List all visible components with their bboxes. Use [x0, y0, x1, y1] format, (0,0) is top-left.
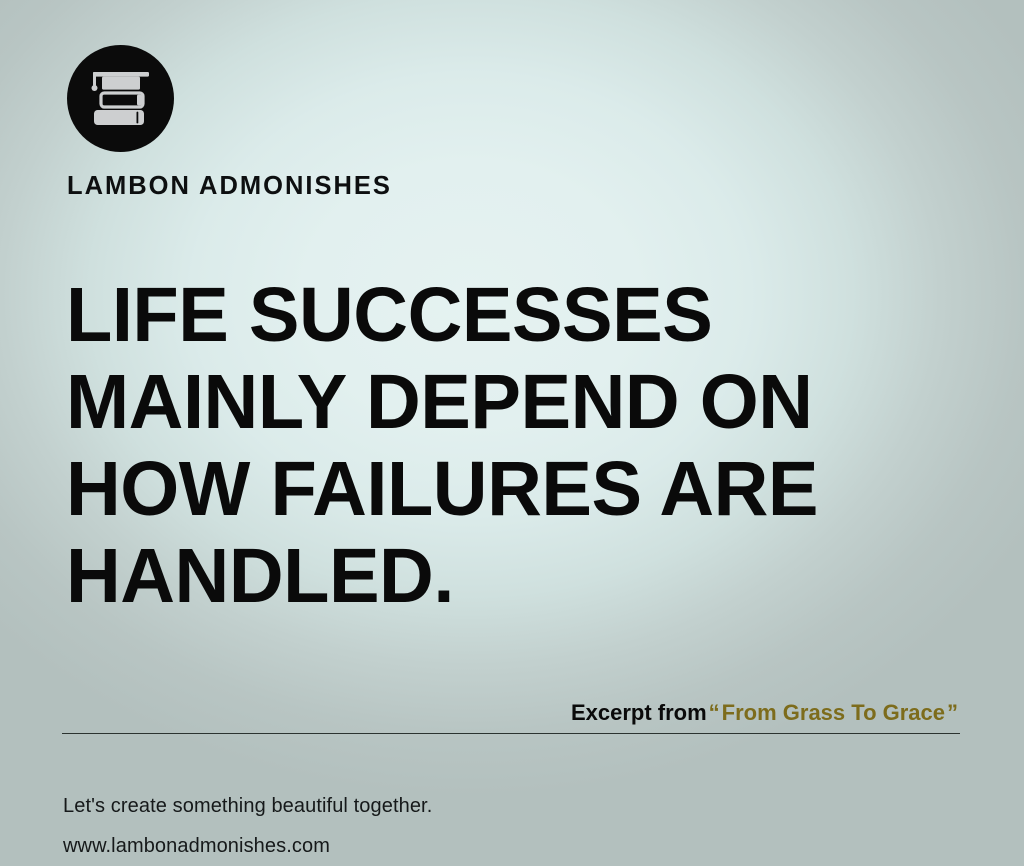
page-title: LIFE SUCCESSES MAINLY DEPEND ON HOW FAIL… — [66, 272, 966, 620]
open-quote-mark: “ — [707, 700, 722, 725]
headline-line-1: LIFE SUCCESSES — [66, 272, 953, 359]
divider — [62, 733, 960, 734]
footer-website[interactable]: www.lambonadmonishes.com — [63, 826, 432, 866]
close-quote-mark: ” — [945, 700, 960, 725]
graduation-cap-on-books-icon — [85, 63, 157, 135]
excerpt-source-title: From Grass To Grace — [722, 700, 945, 725]
brand-name: LAMBON ADMONISHES — [67, 174, 487, 200]
headline-line-4: HANDLED. — [66, 533, 953, 620]
headline-line-3: HOW FAILURES ARE — [66, 446, 953, 533]
quote-card: LAMBON ADMONISHES LIFE SUCCESSES MAINLY … — [0, 0, 1024, 866]
footer: Let's create something beautiful togethe… — [63, 786, 432, 866]
logo-mark — [67, 45, 174, 152]
excerpt-attribution: Excerpt from“From Grass To Grace” — [571, 700, 960, 726]
brand-block: LAMBON ADMONISHES — [67, 45, 487, 200]
headline-line-2: MAINLY DEPEND ON — [66, 359, 953, 446]
footer-tagline: Let's create something beautiful togethe… — [63, 786, 432, 826]
excerpt-prefix: Excerpt from — [571, 700, 707, 725]
